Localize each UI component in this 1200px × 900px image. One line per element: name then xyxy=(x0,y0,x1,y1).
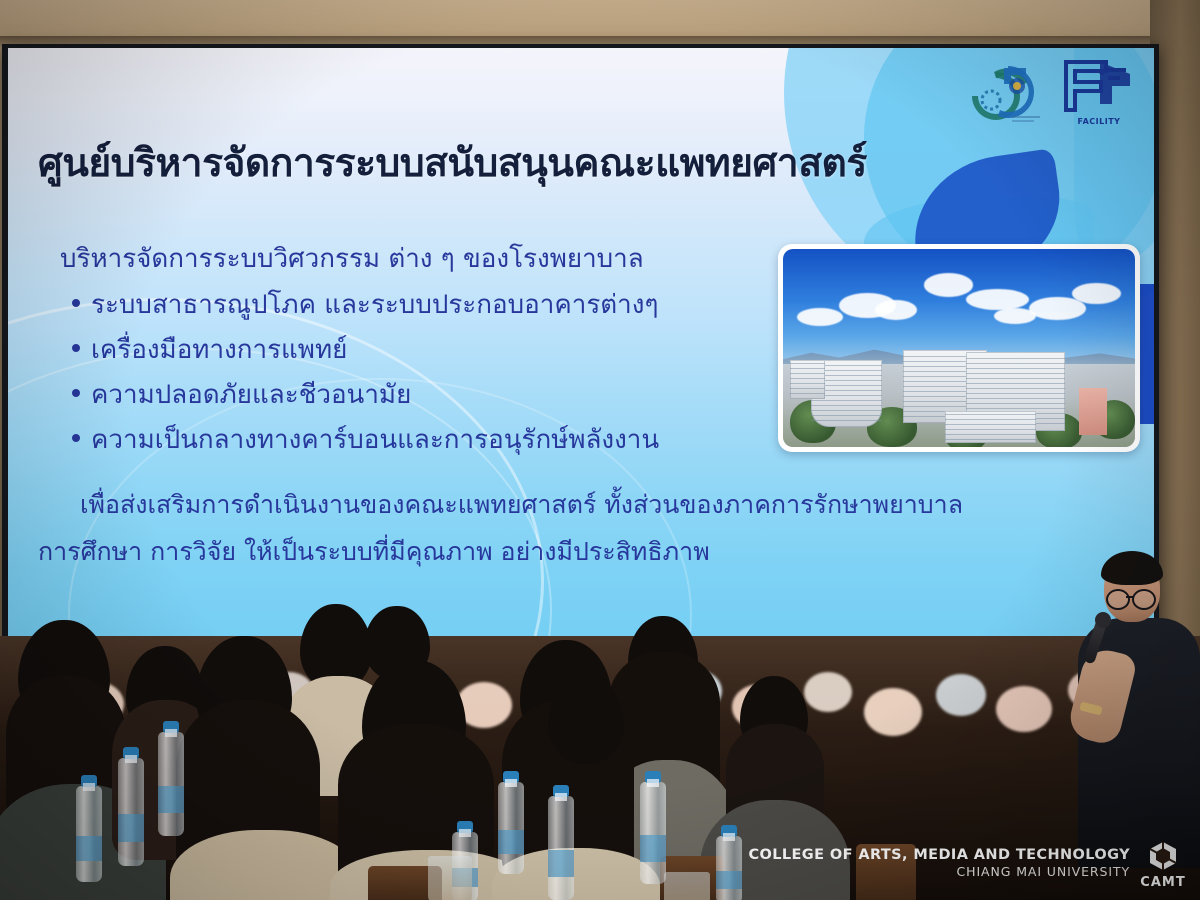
bullet-dot-icon xyxy=(72,344,80,352)
slide-lead-line: บริหารจัดการระบบวิศวกรรม ต่าง ๆ ของโรงพย… xyxy=(60,246,750,272)
fa-logo-sublabel: FACILITY xyxy=(1060,117,1138,126)
camt-watermark: COLLEGE OF ARTS, MEDIA AND TECHNOLOGY CH… xyxy=(748,840,1186,886)
audience-head xyxy=(548,676,624,764)
slide-closing-block: เพื่อส่งเสริมการดำเนินงานของคณะแพทยศาสตร… xyxy=(38,492,1118,586)
microphone-head-icon xyxy=(1095,612,1111,628)
slide-bullet-label: ระบบสาธารณูปโภค และระบบประกอบอาคารต่างๆ xyxy=(91,292,658,318)
glasses-bridge xyxy=(1126,596,1134,598)
water-bottle[interactable] xyxy=(76,786,102,882)
water-bottle[interactable] xyxy=(158,732,184,836)
slide-bullet-item: ความเป็นกลางทางคาร์บอนและการอนุรักษ์พลัง… xyxy=(72,427,750,453)
screenshot-root: FACILITY ศูนย์บริหารจัดการระบบสนับสนุนคณ… xyxy=(0,0,1200,900)
watermark-line-2: CHIANG MAI UNIVERSITY xyxy=(748,864,1130,880)
slide-closing-line: การศึกษา การวิจัย ให้เป็นระบบที่มีคุณภาพ… xyxy=(38,539,1118,564)
slide-bullet-label: ความปลอดภัยและชีวอนามัย xyxy=(91,382,411,408)
water-bottle[interactable] xyxy=(716,836,742,900)
drinking-glass[interactable] xyxy=(664,872,710,900)
audience-head xyxy=(364,606,430,680)
slide-title: ศูนย์บริหารจัดการระบบสนับสนุนคณะแพทยศาสต… xyxy=(38,144,998,185)
hospital-photo-inner xyxy=(783,249,1135,447)
bullet-dot-icon xyxy=(72,434,80,442)
slide-body: บริหารจัดการระบบวิศวกรรม ต่าง ๆ ของโรงพย… xyxy=(60,246,750,472)
glasses-icon xyxy=(1106,589,1130,610)
slide-closing-line: เพื่อส่งเสริมการดำเนินงานของคณะแพทยศาสตร… xyxy=(38,492,1118,517)
camt-logo: CAMT xyxy=(1140,840,1186,886)
slide-bullet-label: เครื่องมือทางการแพทย์ xyxy=(91,337,347,363)
slide-bullet-item: ความปลอดภัยและชีวอนามัย xyxy=(72,382,750,408)
slide-bullet-label: ความเป็นกลางทางคาร์บอนและการอนุรักษ์พลัง… xyxy=(91,427,659,453)
watermark-text: COLLEGE OF ARTS, MEDIA AND TECHNOLOGY CH… xyxy=(748,846,1130,880)
presentation-slide: FACILITY ศูนย์บริหารจัดการระบบสนับสนุนคณ… xyxy=(8,48,1154,640)
anniversary-65-logo xyxy=(964,56,1046,132)
slide-bullet-item: ระบบสาธารณูปโภค และระบบประกอบอาคารต่างๆ xyxy=(72,292,750,318)
drinking-glass[interactable] xyxy=(428,856,472,900)
watermark-line-1: COLLEGE OF ARTS, MEDIA AND TECHNOLOGY xyxy=(748,846,1130,864)
camt-logo-label: CAMT xyxy=(1140,875,1186,890)
bullet-dot-icon xyxy=(72,389,80,397)
slide-bullet-item: เครื่องมือทางการแพทย์ xyxy=(72,337,750,363)
water-bottle[interactable] xyxy=(498,782,524,874)
glasses-icon xyxy=(1132,589,1156,610)
water-bottle[interactable] xyxy=(640,782,666,884)
bullet-dot-icon xyxy=(72,299,80,307)
hospital-aerial-photo xyxy=(778,244,1140,452)
water-bottle[interactable] xyxy=(548,796,574,900)
water-bottle[interactable] xyxy=(118,758,144,866)
fa-facility-logo: FACILITY xyxy=(1060,56,1138,132)
slide-logo-group: FACILITY xyxy=(964,56,1138,132)
